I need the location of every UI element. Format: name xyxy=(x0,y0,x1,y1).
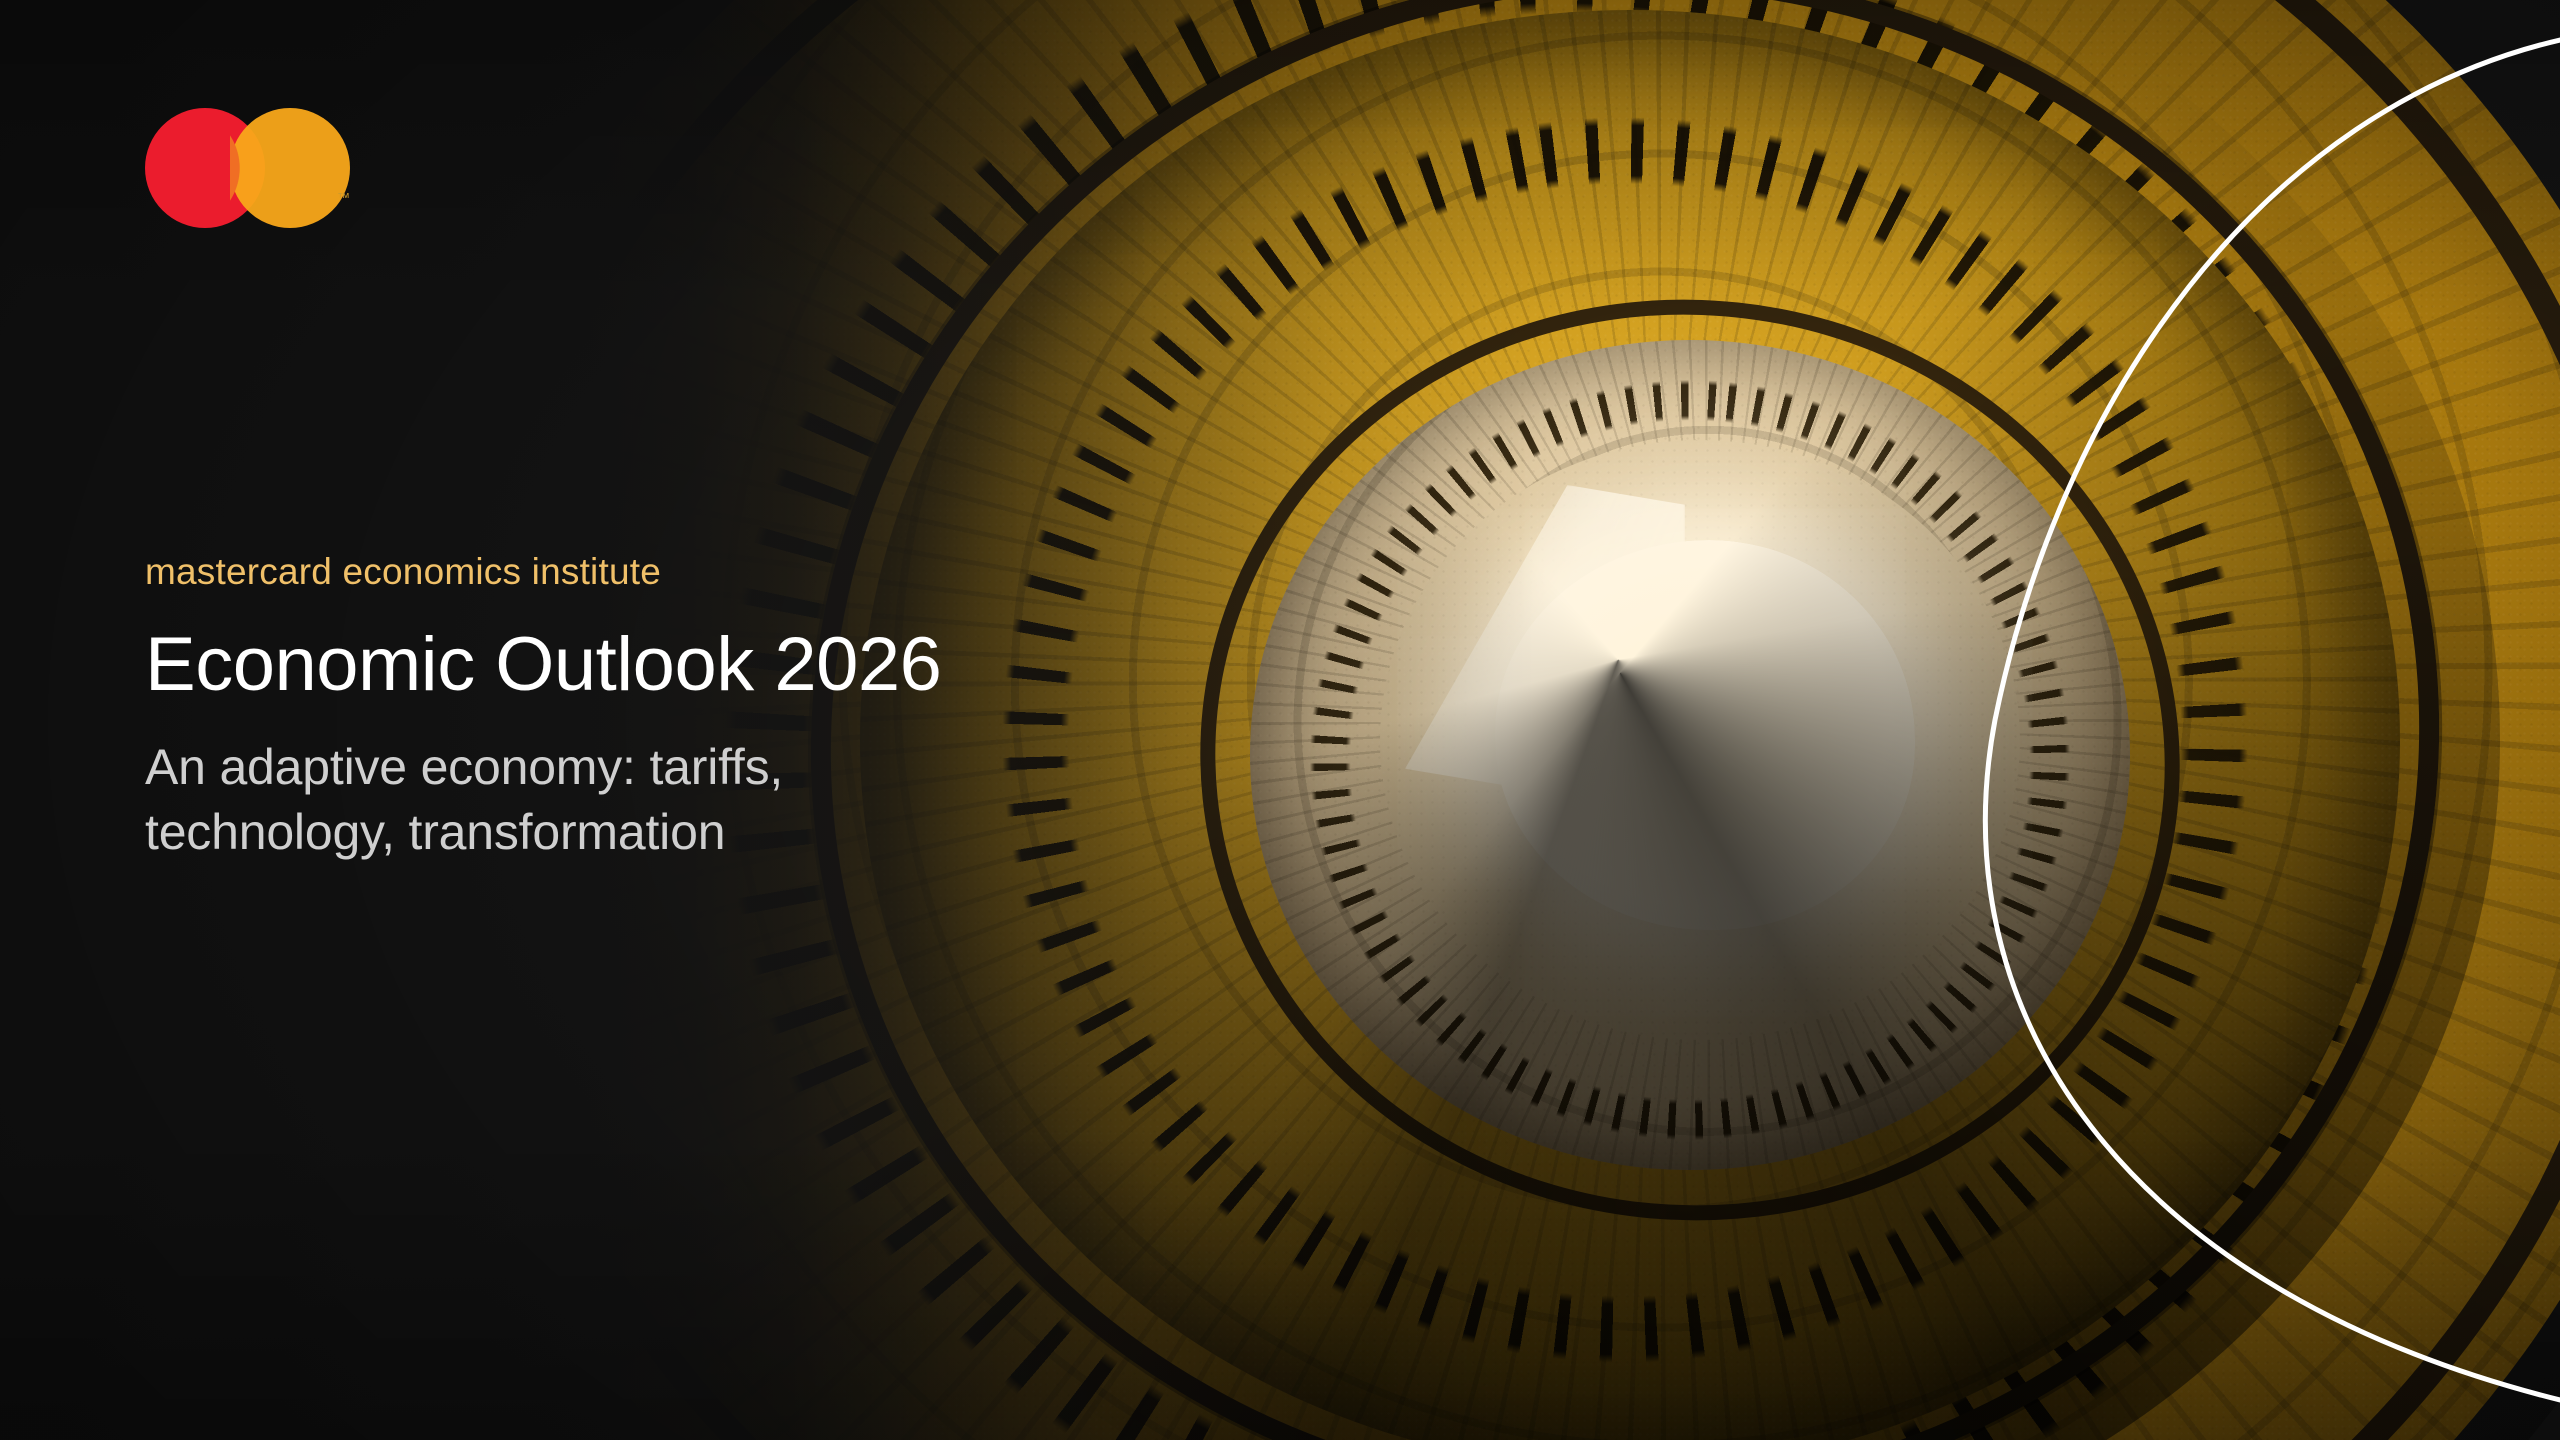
title-block: mastercard economics institute Economic … xyxy=(145,552,1265,865)
page-title: Economic Outlook 2026 xyxy=(145,625,1265,706)
mastercard-logo-icon: ™ xyxy=(145,108,350,228)
report-cover-slide: ™ mastercard economics institute Economi… xyxy=(0,0,2560,1440)
cover-content: ™ mastercard economics institute Economi… xyxy=(145,0,1345,1440)
logo-overlap-shape xyxy=(230,108,265,228)
eyebrow-label: mastercard economics institute xyxy=(145,552,1265,593)
trademark-icon: ™ xyxy=(337,190,351,205)
page-subtitle: An adaptive economy: tariffs, technology… xyxy=(145,735,1045,865)
